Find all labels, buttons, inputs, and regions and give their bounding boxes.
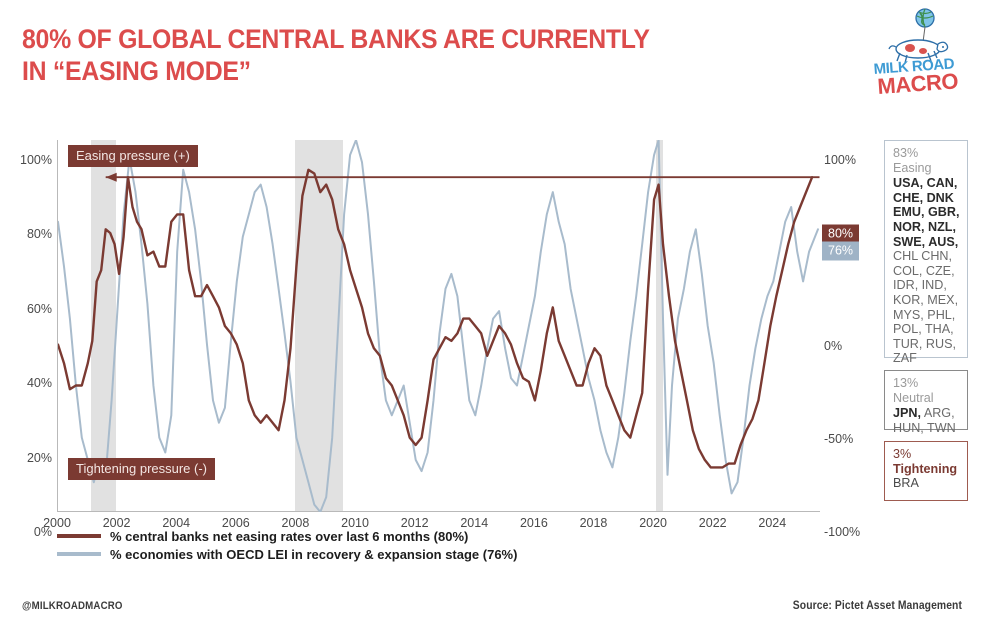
svg-text:MACRO: MACRO — [877, 68, 960, 98]
legend-item: % economies with OECD LEI in recovery & … — [57, 545, 657, 563]
x-axis-tick-label: 2022 — [699, 516, 727, 530]
y-axis-tick-label: 100% — [20, 153, 52, 167]
tightening-pressure-label: Tightening pressure (-) — [68, 458, 215, 480]
legend-label: % central banks net easing rates over la… — [110, 529, 468, 544]
x-axis-tick-label: 2024 — [758, 516, 786, 530]
right-axis-tick-label: 100% — [824, 153, 856, 167]
y-axis-tick-label: 40% — [27, 376, 52, 390]
panel-easing: 83% Easing USA, CAN, CHE, DNK EMU, GBR, … — [884, 140, 968, 358]
page-title-line-1: 80% of global central banks are currentl… — [22, 24, 684, 56]
panel-neutral-header: 13% Neutral — [893, 376, 960, 405]
panel-tightening: 3% Tightening BRA — [884, 441, 968, 501]
reference-line-arrowhead — [106, 173, 117, 182]
page-title: 80% of global central banks are currentl… — [22, 24, 684, 88]
panel-neutral: 13% Neutral JPN, ARG, HUN, TWN — [884, 370, 968, 430]
legend-swatch — [57, 534, 101, 538]
right-axis-tick-label: -50% — [824, 432, 853, 446]
y-axis-right: 100%0%-50%-100%80%76% — [824, 140, 884, 512]
plot-area: Easing pressure (+) Tightening pressure … — [57, 140, 820, 512]
y-axis-tick-label: 60% — [27, 302, 52, 316]
easing-pressure-label: Easing pressure (+) — [68, 145, 198, 167]
y-axis-tick-label: 80% — [27, 227, 52, 241]
right-axis-tick-label: -100% — [824, 525, 860, 539]
page-title-line-2: in “easing mode” — [22, 56, 684, 88]
legend-item: % central banks net easing rates over la… — [57, 527, 657, 545]
series-lines — [58, 140, 821, 512]
badge-lei-value: 76% — [822, 242, 859, 261]
panel-tightening-percent: 3% — [893, 447, 960, 462]
panel-tightening-list: BRA — [893, 476, 960, 491]
social-handle: @MILKROADMACRO — [22, 600, 123, 612]
panel-easing-strong-list: USA, CAN, CHE, DNK EMU, GBR, NOR, NZL, S… — [893, 176, 959, 248]
legend-label: % economies with OECD LEI in recovery & … — [110, 547, 517, 562]
y-axis-left: 0%20%40%60%80%100% — [0, 140, 52, 512]
panel-easing-light-list: CHL CHN, COL, CZE, IDR, IND, KOR, MEX, M… — [893, 249, 958, 365]
right-axis-tick-label: 0% — [824, 339, 842, 353]
chart-container: 0%20%40%60%80%100% Easing pressure (+) T… — [0, 120, 984, 520]
source-credit: Source: Pictet Asset Management — [793, 600, 962, 612]
logo-artwork: MILK ROAD MACRO — [870, 6, 968, 98]
chart-legend: % central banks net easing rates over la… — [57, 527, 657, 563]
series-line — [58, 170, 812, 468]
milk-road-macro-logo: MILK ROAD MACRO — [870, 6, 968, 98]
legend-swatch — [57, 552, 101, 556]
infographic-page: 80% of global central banks are currentl… — [0, 0, 984, 633]
panel-tightening-header: Tightening — [893, 462, 960, 477]
panel-easing-header: 83% Easing — [893, 146, 960, 175]
y-axis-tick-label: 20% — [27, 451, 52, 465]
panel-neutral-strong-list: JPN, — [893, 406, 921, 420]
